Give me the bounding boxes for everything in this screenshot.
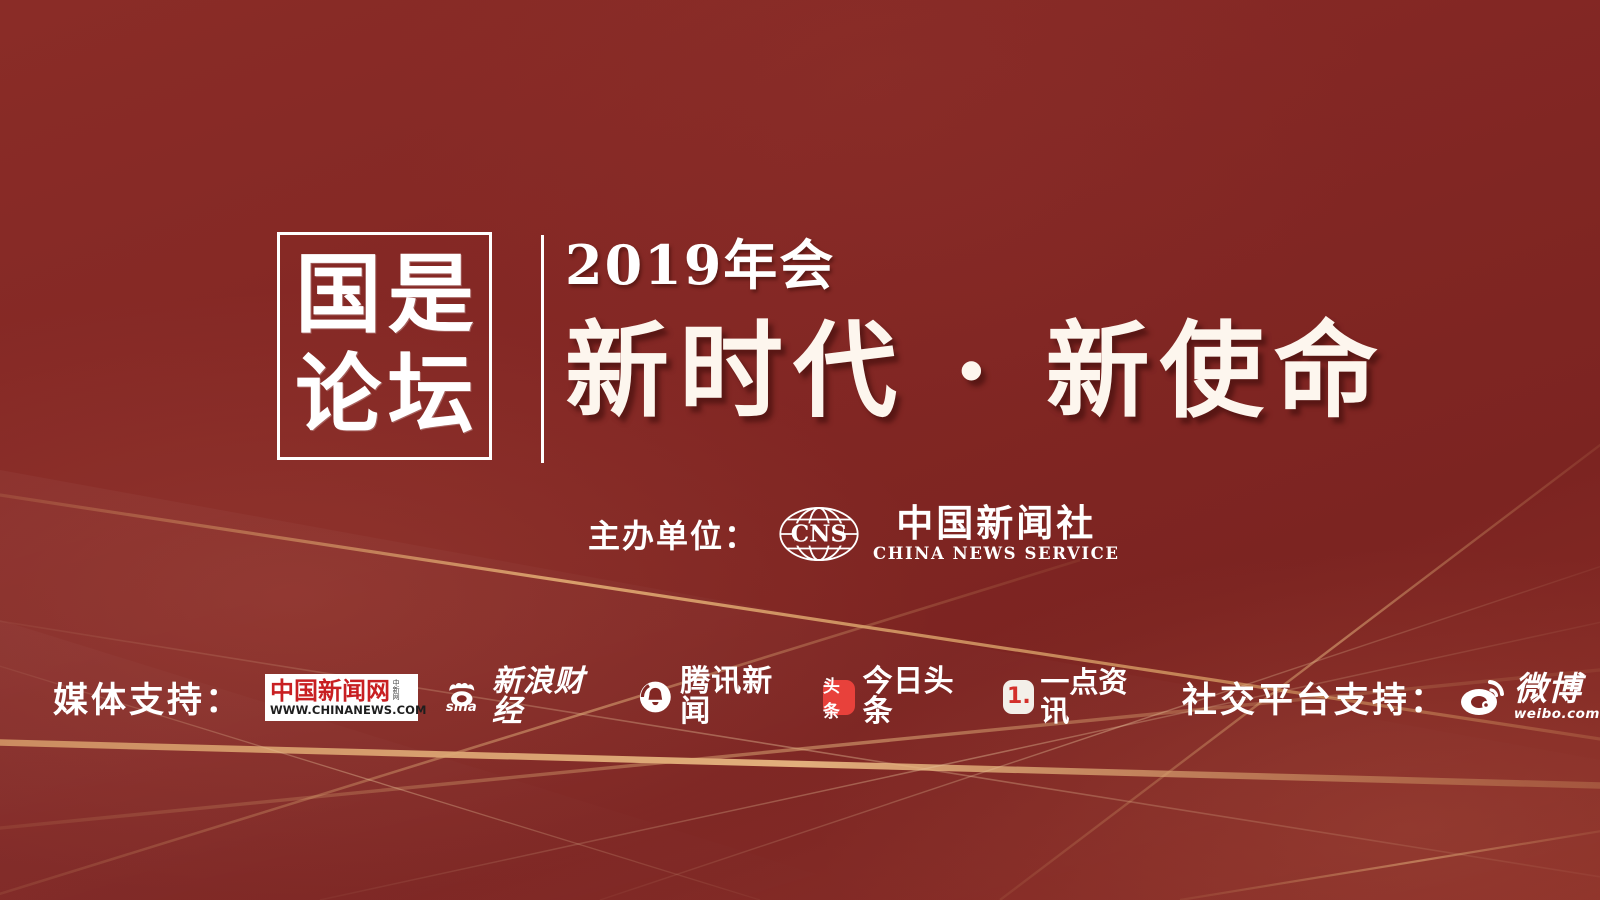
toutiao-name-cn: 今日头条 [863,667,974,727]
logo-char-1: 国 [292,245,385,345]
vertical-divider [541,235,544,463]
svg-text:CNS: CNS [791,521,847,548]
partner-toutiao[interactable]: 头条 今日头条 [823,667,974,727]
yidian-name-cn: 一点资讯 [1040,668,1145,726]
toutiao-badge-icon: 头条 [823,680,855,715]
cns-logo: CNS 中国新闻社 CHINA NEWS SERVICE [778,505,1120,563]
weibo-name-cn: 微博 [1514,672,1600,705]
tencent-name-cn: 腾讯新闻 [680,667,793,727]
weibo-eye-icon [1460,678,1506,716]
cns-globe-icon: CNS [778,505,860,563]
partner-yidianzixun[interactable]: 1. 一点资讯 [1003,668,1145,726]
chinanews-url: WWW.CHINANEWS.COM [270,705,415,717]
svg-text:sina: sina [446,700,477,714]
organizer-label: 主办单位： [588,511,758,557]
slogan-text: 新时代 · 新使命 [565,316,1365,426]
chinanews-logo: 中国新闻网 中新网 [270,679,415,703]
sina-name-cn: 新浪财经 [492,667,605,727]
chinanews-name-cn: 中国新闻网 [270,679,390,703]
headline-block: 2019年会 新时代 · 新使命 [565,238,1365,426]
sina-eye-icon: sina [444,680,485,714]
cns-name-cn: 中国新闻社 [896,505,1096,542]
social-partner-list: 微博 weibo.com [1448,672,1600,722]
decorative-line-pattern [0,0,1600,900]
forum-logo-box: 国 是 论 坛 [277,232,492,460]
tencent-news-icon [639,679,672,715]
poster-canvas: 国 是 论 坛 2019年会 新时代 · 新使命 主办单位： [0,0,1600,900]
organizer-block: 主办单位： CNS 中国新闻社 CHINA NEWS SERVICE [588,505,1120,563]
social-support-label: 社交平台支持： [1182,672,1448,723]
partner-tencent-news[interactable]: 腾讯新闻 [639,667,793,727]
partner-chinanews[interactable]: 中国新闻网 中新网 WWW.CHINANEWS.COM [265,674,418,721]
media-support-label: 媒体支持： [53,672,243,723]
logo-char-4: 坛 [385,345,478,445]
yidian-badge-icon: 1. [1003,680,1034,714]
media-partner-list: 中国新闻网 中新网 WWW.CHINANEWS.COM sina 新浪财经 [243,667,1146,727]
weibo-wordmark: 微博 weibo.com [1514,672,1600,722]
cns-name-en: CHINA NEWS SERVICE [873,546,1120,563]
logo-char-2: 是 [385,245,478,345]
forum-logo-characters: 国 是 论 坛 [280,235,489,457]
partner-sina-finance[interactable]: sina 新浪财经 [444,667,605,727]
chinanews-side-text: 中新网 [392,679,399,703]
logo-char-3: 论 [292,345,385,445]
cns-wordmark: 中国新闻社 CHINA NEWS SERVICE [873,505,1120,563]
partner-weibo[interactable]: 微博 weibo.com [1460,672,1600,722]
weibo-url: weibo.com [1514,708,1600,722]
year-label: 2019年会 [565,238,1365,292]
partner-bar: 媒体支持： 中国新闻网 中新网 WWW.CHINANEWS.COM [0,668,1600,726]
